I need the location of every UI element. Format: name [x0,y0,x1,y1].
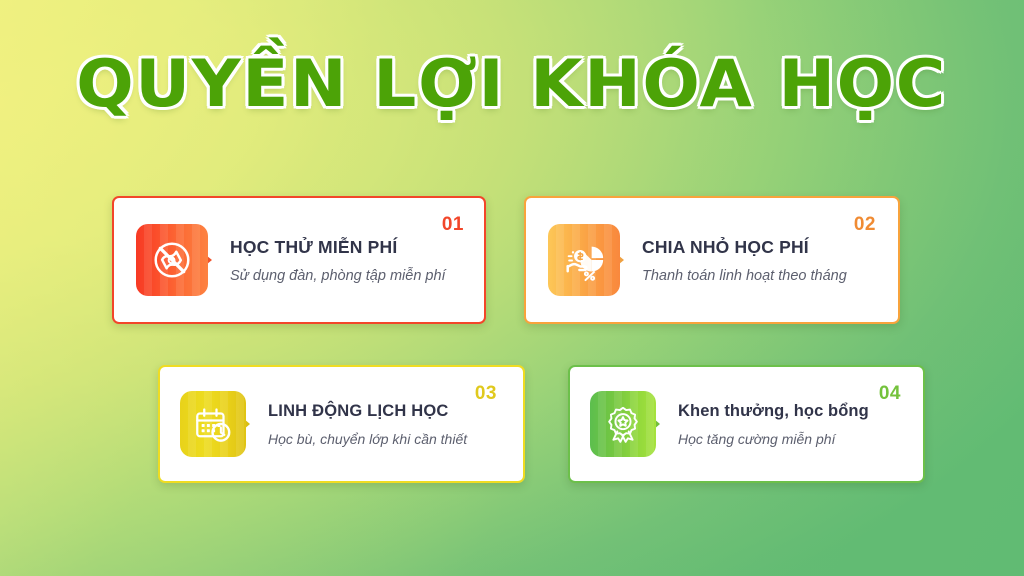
card-1-icon-block [136,224,208,296]
card-4-text: Khen thưởng, học bổng Học tăng cường miễ… [656,402,923,447]
card-2-icon-tile [548,224,620,296]
card-2-subtitle: Thanh toán linh hoạt theo tháng [642,268,884,284]
card-3-text: LINH ĐỘNG LỊCH HỌC Học bù, chuyển lớp kh… [246,402,523,447]
page-header: QUYỀN LỢI KHÓA HỌC [0,52,1024,117]
card-4-icon-tile [590,391,656,457]
benefit-card-2[interactable]: CHIA NHỎ HỌC PHÍ Thanh toán linh hoạt th… [524,196,900,324]
benefit-card-1[interactable]: HỌC THỬ MIỄN PHÍ Sử dụng đàn, phòng tập … [112,196,486,324]
card-1-subtitle: Sử dụng đàn, phòng tập miễn phí [230,268,470,284]
card-2-text: CHIA NHỎ HỌC PHÍ Thanh toán linh hoạt th… [620,237,898,284]
card-1-title: HỌC THỬ MIỄN PHÍ [230,237,397,258]
card-1-number: 01 [442,214,464,236]
card-2-title: CHIA NHỎ HỌC PHÍ [642,237,809,258]
card-1-icon-tile [136,224,208,296]
card-4-title: Khen thưởng, học bổng [678,402,869,421]
card-1-text: HỌC THỬ MIỄN PHÍ Sử dụng đàn, phòng tập … [208,237,484,284]
calendar-clock-icon [192,403,234,445]
card-3-icon-block [180,391,246,457]
benefit-card-3[interactable]: LINH ĐỘNG LỊCH HỌC Học bù, chuyển lớp kh… [158,365,525,483]
page-title: QUYỀN LỢI KHÓA HỌC [77,52,948,117]
award-ribbon-icon [602,403,644,445]
card-4-number: 04 [879,383,901,405]
money-pie-chart-icon [561,237,607,283]
no-payment-icon [149,237,195,283]
card-2-number: 02 [854,214,876,236]
card-2-icon-block [548,224,620,296]
card-3-number: 03 [475,383,497,405]
card-3-icon-tile [180,391,246,457]
benefit-card-4[interactable]: Khen thưởng, học bổng Học tăng cường miễ… [568,365,925,483]
card-4-icon-block [590,391,656,457]
card-3-subtitle: Học bù, chuyển lớp khi cần thiết [268,431,509,447]
card-4-subtitle: Học tăng cường miễn phí [678,431,909,447]
card-3-title: LINH ĐỘNG LỊCH HỌC [268,402,449,421]
